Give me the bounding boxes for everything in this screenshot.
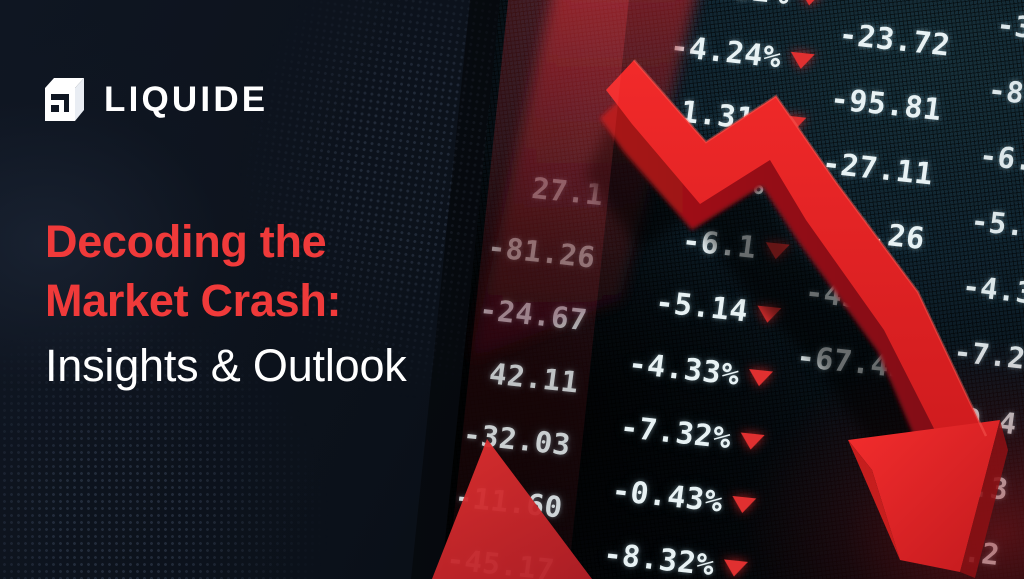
brand-wordmark: LIQUIDE	[104, 82, 268, 117]
marketing-banner: -8.32% -4.24% -1.31% -.97% 2% 43% 2.22% …	[0, 0, 1024, 579]
headline-line-2: Market Crash:	[45, 271, 515, 330]
headline: Decoding the Market Crash: Insights & Ou…	[45, 212, 515, 402]
brand-logo[interactable]: LIQUIDE	[43, 76, 268, 123]
headline-line-3: Insights & Outlook	[45, 330, 515, 402]
headline-line-1: Decoding the	[45, 212, 515, 271]
liquide-cube-arrow-icon	[43, 76, 87, 123]
